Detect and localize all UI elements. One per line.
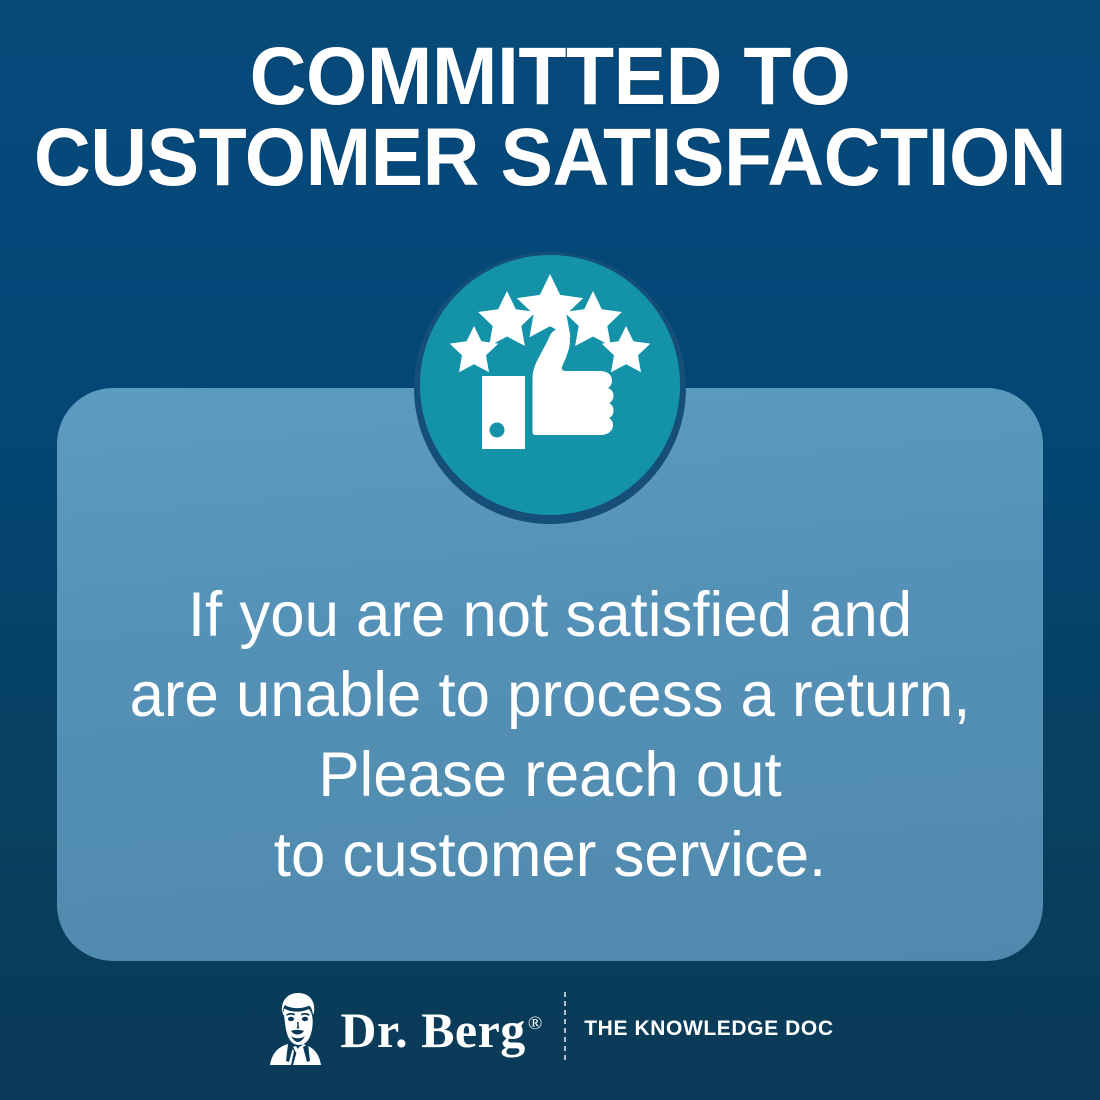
registered-trademark-icon: ® xyxy=(528,1013,542,1034)
brand-name: Dr. Berg xyxy=(340,1002,525,1058)
dr-berg-portrait-icon xyxy=(266,991,330,1065)
thumbs-up-five-stars-icon xyxy=(414,252,686,524)
body-line-1: If you are not satisfied and xyxy=(67,575,1033,655)
headline-line-1: COMMITTED TO xyxy=(22,36,1078,117)
satisfaction-badge xyxy=(414,252,686,524)
message-body: If you are not satisfied and are unable … xyxy=(67,575,1033,895)
brand-tagline: THE KNOWLEDGE DOC xyxy=(584,1017,833,1041)
footer-divider xyxy=(564,992,566,1064)
promo-poster: COMMITTED TO CUSTOMER SATISFACTION xyxy=(0,0,1100,1100)
brand-wordmark: Dr. Berg® xyxy=(340,1005,542,1055)
body-line-2: are unable to process a return, xyxy=(67,655,1033,735)
body-line-4: to customer service. xyxy=(67,815,1033,895)
page-title: COMMITTED TO CUSTOMER SATISFACTION xyxy=(22,36,1078,198)
body-line-3: Please reach out xyxy=(67,735,1033,815)
brand-footer: Dr. Berg® THE KNOWLEDGE DOC xyxy=(0,988,1100,1068)
cuff-button-dot xyxy=(490,423,505,438)
headline-line-2: CUSTOMER SATISFACTION xyxy=(22,117,1078,198)
